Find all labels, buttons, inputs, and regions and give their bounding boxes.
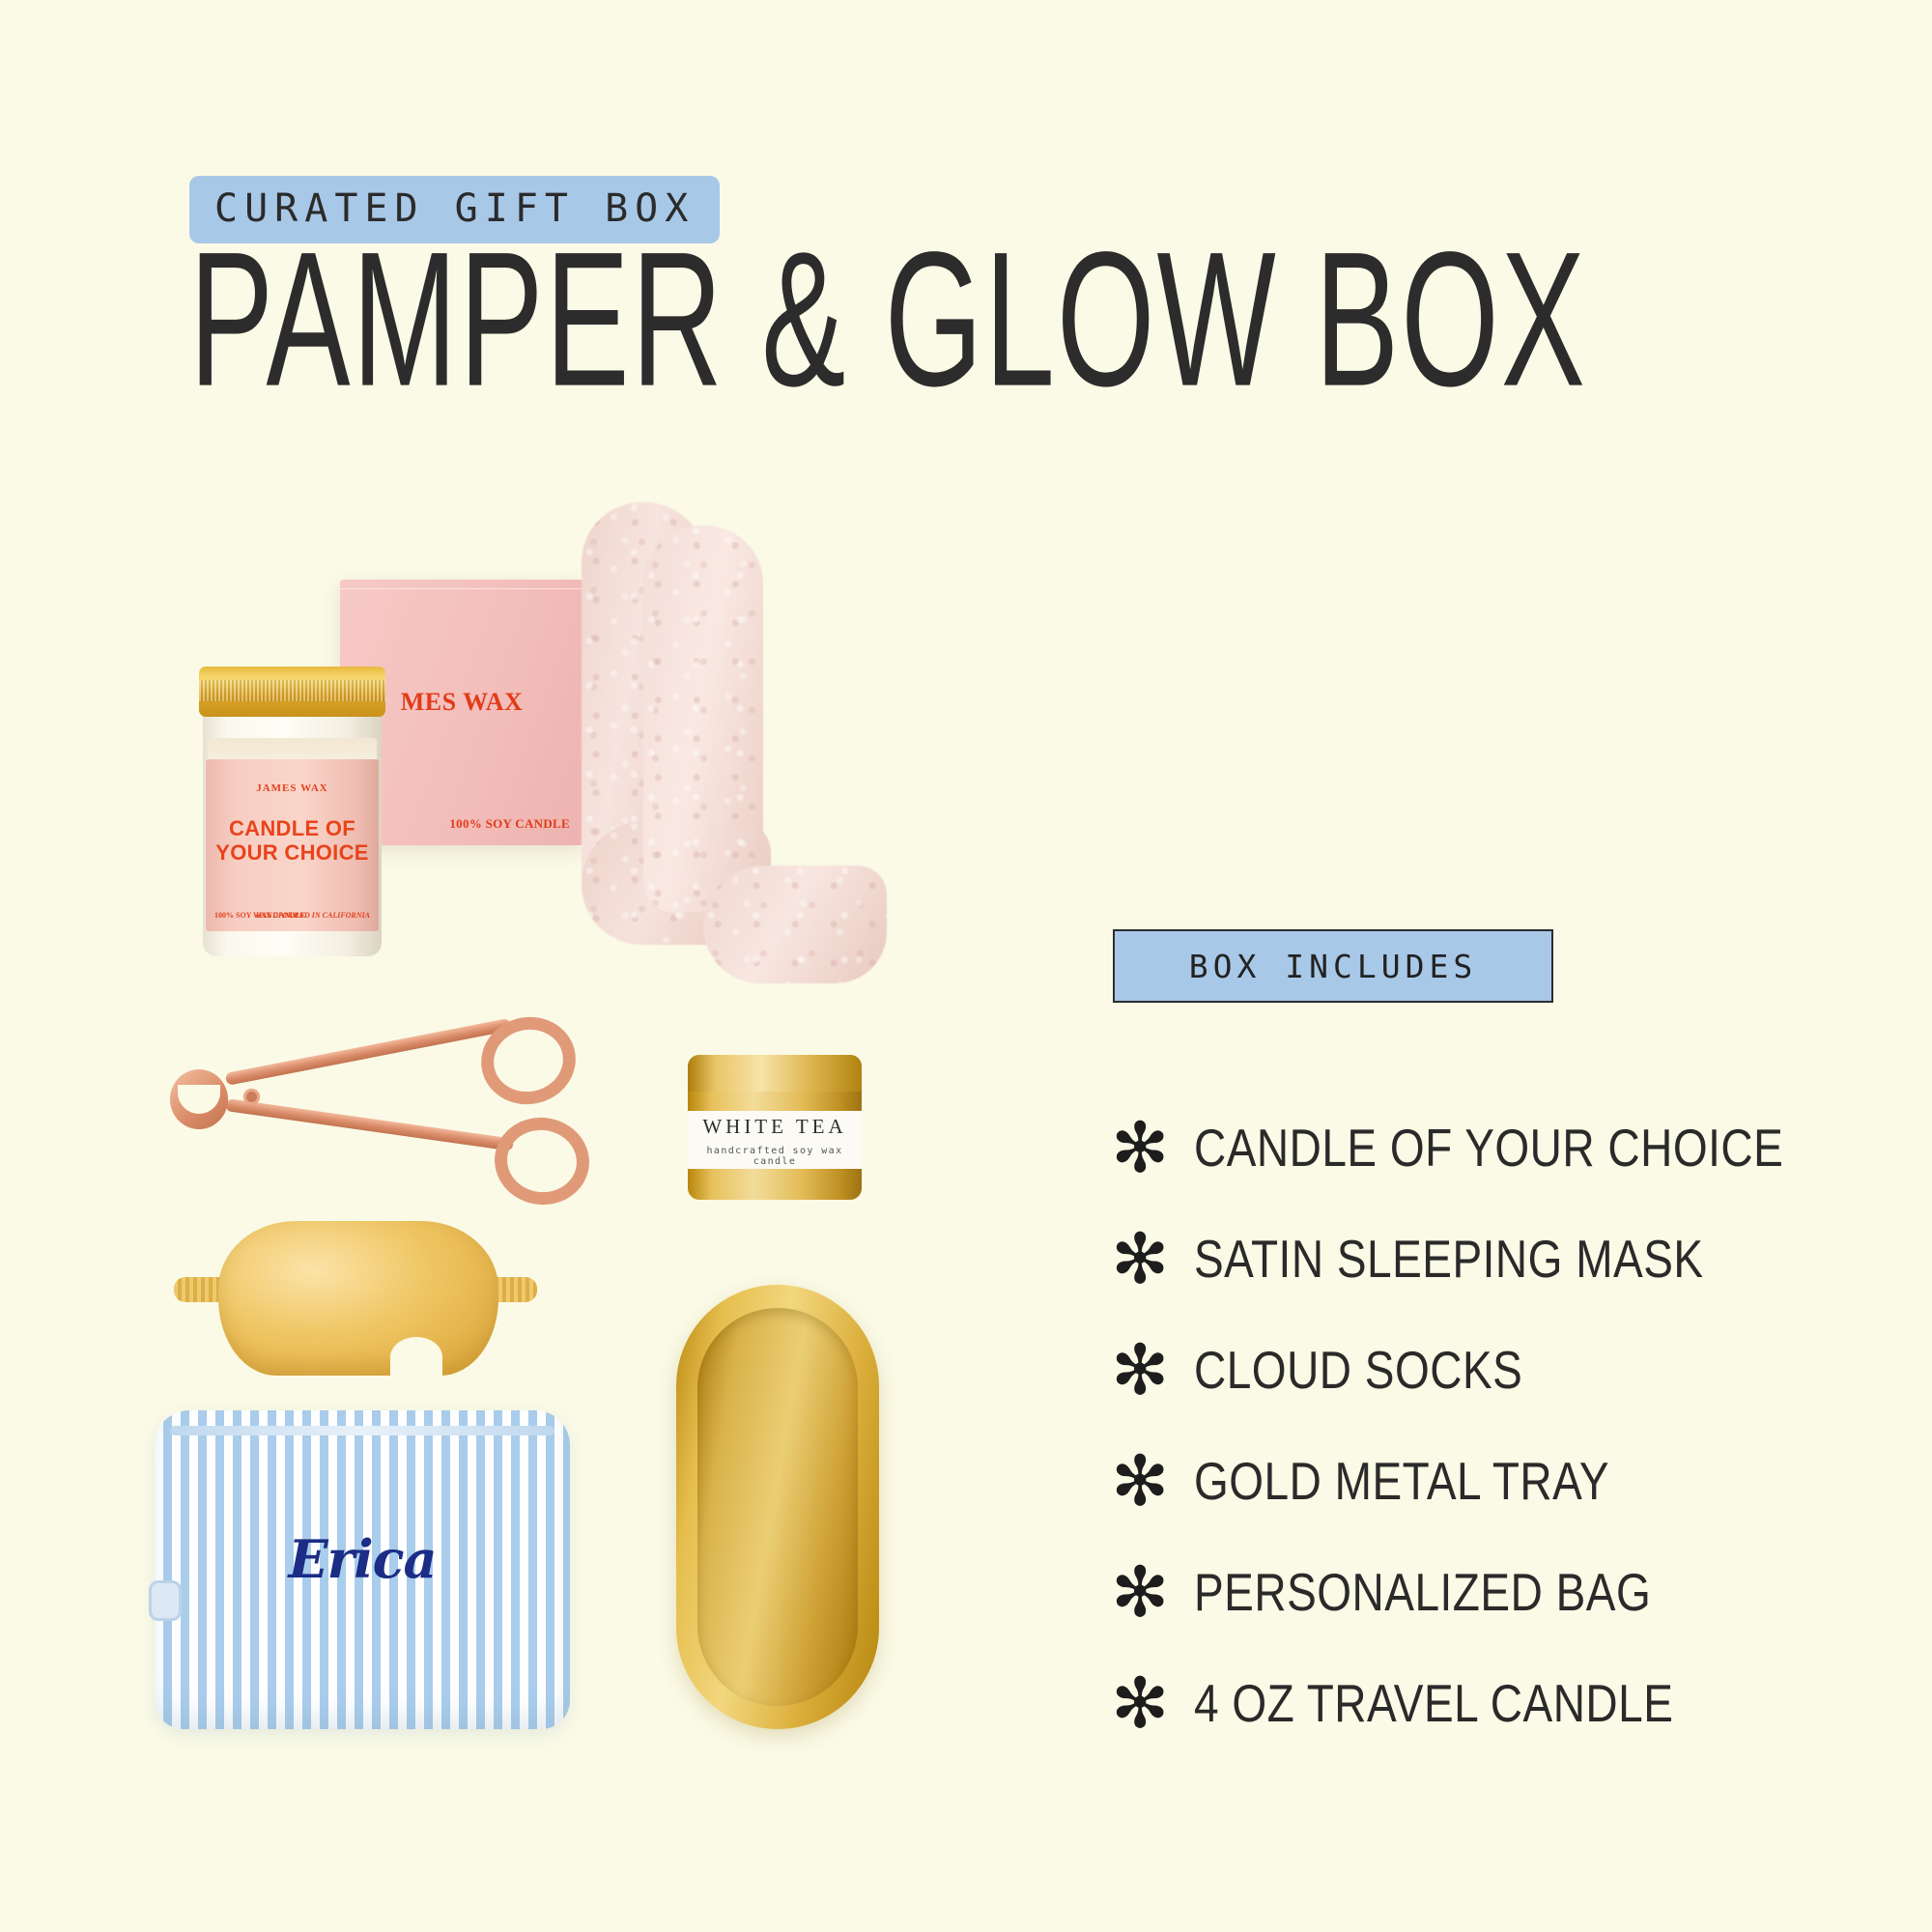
tin-lid xyxy=(688,1055,862,1092)
product-personalized-bag-image: Erica xyxy=(155,1410,570,1729)
sock-texture xyxy=(643,526,763,912)
box-includes-label: BOX INCLUDES xyxy=(1189,948,1477,985)
trimmer-blade-head xyxy=(170,1069,228,1129)
list-item: ✻CLOUD SOCKS xyxy=(1111,1314,1864,1425)
bag-body: Erica xyxy=(155,1410,570,1729)
bag-zipper-pull xyxy=(149,1580,182,1621)
list-item: ✻CANDLE OF YOUR CHOICE xyxy=(1111,1092,1864,1203)
asterisk-bullet-icon: ✻ xyxy=(1111,1557,1194,1627)
jar-label: JAMES WAX CANDLE OF YOUR CHOICE 100% SOY… xyxy=(206,759,379,931)
list-item-label: PERSONALIZED BAG xyxy=(1194,1561,1651,1623)
trimmer-arm-upper xyxy=(225,1018,512,1086)
list-item: ✻PERSONALIZED BAG xyxy=(1111,1536,1864,1647)
bag-zipper xyxy=(170,1426,554,1435)
list-item: ✻SATIN SLEEPING MASK xyxy=(1111,1203,1864,1314)
jar-brand: JAMES WAX xyxy=(206,782,379,794)
tin-subtitle: handcrafted soy wax candle xyxy=(688,1146,862,1167)
asterisk-bullet-icon: ✻ xyxy=(1111,1113,1194,1182)
page-title: PAMPER & GLOW BOX xyxy=(189,259,1587,383)
trimmer-pivot-screw xyxy=(243,1089,260,1105)
bag-embroidered-name: Erica xyxy=(155,1528,570,1590)
list-item-label: GOLD METAL TRAY xyxy=(1194,1450,1609,1512)
jar-name-line-2: YOUR CHOICE xyxy=(206,841,379,866)
poster-canvas: CURATED GIFT BOX PAMPER & GLOW BOX MES W… xyxy=(0,0,1932,1932)
asterisk-bullet-icon: ✻ xyxy=(1111,1446,1194,1516)
trimmer-ring-lower xyxy=(489,1112,595,1211)
product-candle-jar-image: JAMES WAX CANDLE OF YOUR CHOICE 100% SOY… xyxy=(203,667,382,956)
jar-product-name: CANDLE OF YOUR CHOICE xyxy=(206,817,379,865)
mask-body xyxy=(218,1221,498,1376)
sock-foot-texture xyxy=(703,866,887,983)
list-item-label: 4 OZ TRAVEL CANDLE xyxy=(1194,1672,1673,1734)
product-gold-tray-image xyxy=(676,1285,879,1729)
jar-name-line-1: CANDLE OF xyxy=(206,817,379,841)
product-travel-tin-image: WHITE TEA handcrafted soy wax candle xyxy=(688,1055,862,1200)
box-includes-heading: BOX INCLUDES xyxy=(1113,929,1553,1003)
box-includes-list: ✻CANDLE OF YOUR CHOICE✻SATIN SLEEPING MA… xyxy=(1111,1092,1864,1758)
list-item: ✻GOLD METAL TRAY xyxy=(1111,1425,1864,1536)
product-wick-trimmer-image xyxy=(155,1009,570,1193)
asterisk-bullet-icon: ✻ xyxy=(1111,1224,1194,1293)
list-item-label: CLOUD SOCKS xyxy=(1194,1339,1522,1401)
list-item-label: SATIN SLEEPING MASK xyxy=(1194,1228,1704,1290)
jar-footer-right: HANDPOURED IN CALIFORNIA xyxy=(256,911,370,920)
asterisk-bullet-icon: ✻ xyxy=(1111,1668,1194,1738)
list-item: ✻4 OZ TRAVEL CANDLE xyxy=(1111,1647,1864,1758)
list-item-label: CANDLE OF YOUR CHOICE xyxy=(1194,1117,1783,1179)
tin-scent-name: WHITE TEA xyxy=(688,1115,862,1139)
product-sleeping-mask-image xyxy=(162,1215,549,1399)
jar-gold-lid xyxy=(199,667,385,717)
mask-nose-notch xyxy=(390,1337,442,1378)
page-title-text: PAMPER & GLOW BOX xyxy=(189,225,1587,416)
product-cloud-socks-image xyxy=(529,502,810,1043)
trimmer-arm-lower xyxy=(225,1098,514,1151)
sock-right xyxy=(643,526,763,912)
asterisk-bullet-icon: ✻ xyxy=(1111,1335,1194,1405)
tray-inner-well xyxy=(697,1308,858,1706)
sock-right-foot xyxy=(703,866,887,983)
